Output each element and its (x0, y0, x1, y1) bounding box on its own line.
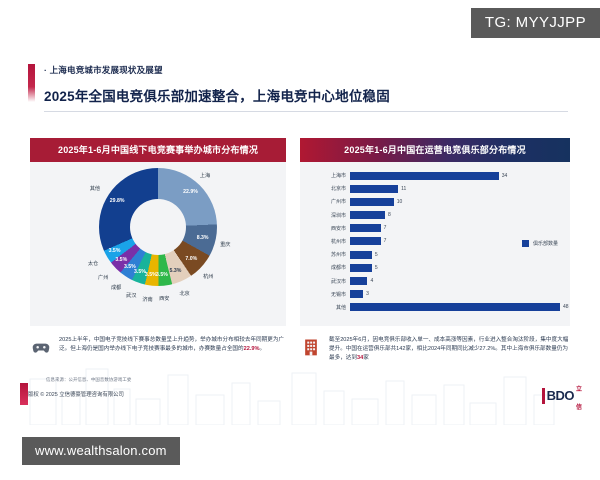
title-divider (44, 111, 568, 112)
note-block-left: 2025上半年，中国电子竞技线下赛事总数量呈上升趋势，举办城市分布相较去年同期更… (30, 336, 288, 358)
pie-slice-label: 重庆 (220, 241, 230, 248)
note-left-text: 2025上半年，中国电子竞技线下赛事总数量呈上升趋势，举办城市分布相较去年同期更… (59, 336, 288, 358)
bar-fill (350, 303, 560, 311)
bar-value-label: 4 (367, 277, 373, 285)
bdo-logo-bar-icon (542, 388, 545, 404)
slide-canvas: TG: MYYJJPP · 上海电竞城市发展现状及展望 2025年全国电竞俱乐部… (0, 0, 600, 425)
pie-slice-label: 北京 (179, 290, 189, 297)
bar-category-label: 上海市 (310, 172, 350, 179)
bar-chart-legend: 俱乐部数量 (522, 240, 558, 247)
pie-slice-label: 武汉 (126, 292, 136, 299)
bar-track: 10 (350, 198, 560, 206)
bar-category-label: 西安市 (310, 225, 350, 232)
bar-row: 上海市34 (310, 170, 560, 181)
bar-fill (350, 264, 372, 272)
bar-value-label: 7 (381, 237, 387, 245)
bdo-logo-cn-bottom: 信 (576, 405, 582, 411)
bar-value-label: 3 (363, 290, 369, 298)
note-right-text-b: 家 (363, 355, 369, 361)
bar-category-label: 北京市 (310, 185, 350, 192)
bar-value-label: 34 (499, 172, 508, 180)
pie-slice-value: 3.5% (115, 257, 127, 263)
bar-fill (350, 185, 398, 193)
panel-right-body: 上海市34北京市11广州市10深圳市8西安市7杭州市7苏州市5成都市5武汉市4无… (300, 162, 570, 326)
bar-fill (350, 211, 385, 219)
pie-slice-label: 西安 (159, 295, 169, 302)
bar-track: 8 (350, 211, 560, 219)
bar-value-label: 11 (398, 185, 406, 193)
note-left-text-b: 。 (259, 346, 265, 352)
bar-track: 7 (350, 224, 560, 232)
note-right-text: 截至2025年6月，因电竞俱乐部收入单一、成本高涨等因素，行业进入整合淘汰阶段，… (329, 336, 572, 363)
bar-fill (350, 277, 367, 285)
bar-category-label: 深圳市 (310, 212, 350, 219)
pie-slice-label: 太仓 (88, 260, 98, 267)
panel-pie-chart: 2025年1-6月中国线下电竞赛事举办城市分布情况 上海22.9%重庆8.3%杭… (30, 138, 286, 326)
bar-fill (350, 290, 363, 298)
pie-slice-value: 22.9% (183, 189, 198, 195)
legend-swatch-icon (522, 240, 529, 247)
bar-row: 西安市7 (310, 223, 560, 234)
bar-row: 广州市10 (310, 196, 560, 207)
bar-value-label: 5 (372, 264, 378, 272)
bar-category-label: 杭州市 (310, 238, 350, 245)
note-left-highlight: 22.9% (244, 346, 260, 352)
bar-value-label: 48 (560, 303, 569, 311)
bar-track: 5 (350, 264, 560, 272)
bar-track: 3 (350, 290, 560, 298)
pie-slice-value: 8.3% (197, 235, 209, 241)
telegram-watermark-tag: TG: MYYJJPP (471, 8, 600, 38)
legend-label: 俱乐部数量 (533, 240, 558, 247)
pie-slice-value: 3.5% (156, 272, 168, 278)
bar-row: 苏州市5 (310, 249, 560, 260)
bar-value-label: 10 (394, 198, 403, 206)
section-kicker: · 上海电竞城市发展现状及展望 (44, 64, 568, 76)
bar-track: 5 (350, 251, 560, 259)
source-line: 信息来源：公开信息、中国音数协游戏工委 (46, 377, 131, 383)
panel-left-header: 2025年1-6月中国线下电竞赛事举办城市分布情况 (30, 138, 286, 162)
donut-ring (99, 168, 217, 286)
note-block-right: 截至2025年6月，因电竞俱乐部收入单一、成本高涨等因素，行业进入整合淘汰阶段，… (300, 336, 572, 363)
bar-fill (350, 172, 499, 180)
bar-row: 其他48 (310, 302, 560, 313)
bar-category-label: 成都市 (310, 264, 350, 271)
pie-slice-label: 杭州 (203, 273, 213, 280)
panel-left-body: 上海22.9%重庆8.3%杭州7.0%北京5.3%西安3.5%济南3.5%武汉3… (30, 162, 286, 326)
bdo-logo-cn-top: 立 (576, 387, 582, 393)
pie-slice-value: 5.3% (170, 268, 182, 274)
bar-fill (350, 224, 381, 232)
bar-row: 成都市5 (310, 262, 560, 273)
pie-slice-value: 7.0% (185, 256, 197, 262)
pie-slice-label: 其他 (90, 185, 100, 192)
copyright-line: 版权 © 2025 立信德豪管理咨询有限公司 (28, 390, 124, 398)
bdo-logo: BDO 立 信 (542, 378, 582, 414)
panel-right-header: 2025年1-6月中国在运营电竞俱乐部分布情况 (300, 138, 570, 162)
bar-row: 武汉市4 (310, 276, 560, 287)
bar-category-label: 无锡市 (310, 291, 350, 298)
bar-track: 48 (350, 303, 560, 311)
bar-fill (350, 237, 381, 245)
bdo-logo-text: BDO (547, 388, 574, 404)
bar-row: 深圳市8 (310, 210, 560, 221)
footer-url-badge: www.wealthsalon.com (22, 437, 180, 465)
pie-slice-value: 29.8% (110, 198, 125, 204)
footer-accent-bar (20, 383, 28, 405)
pie-slice-label: 济南 (142, 296, 152, 303)
bar-row: 无锡市3 (310, 289, 560, 300)
bar-fill (350, 198, 394, 206)
pie-slice-value: 3.5% (109, 248, 121, 254)
bdo-logo-cn: 立 信 (576, 378, 582, 414)
building-icon (300, 336, 322, 358)
bar-category-label: 武汉市 (310, 278, 350, 285)
bar-row: 北京市11 (310, 183, 560, 194)
bar-track: 11 (350, 185, 560, 193)
donut-chart (99, 168, 217, 286)
pie-slice-label: 上海 (200, 172, 210, 179)
pie-slice-label: 广州 (98, 274, 108, 281)
gamepad-icon (30, 336, 52, 358)
bar-fill (350, 251, 372, 259)
pie-slice-label: 成都 (111, 284, 121, 291)
bar-category-label: 苏州市 (310, 251, 350, 258)
panel-bar-chart: 2025年1-6月中国在运营电竞俱乐部分布情况 上海市34北京市11广州市10深… (300, 138, 570, 326)
title-accent-bar (28, 64, 35, 102)
donut-hole (130, 199, 186, 255)
bar-track: 4 (350, 277, 560, 285)
bar-category-label: 广州市 (310, 198, 350, 205)
pie-slice-value: 3.5% (145, 272, 157, 278)
title-block: · 上海电竞城市发展现状及展望 2025年全国电竞俱乐部加速整合，上海电竞中心地… (28, 64, 568, 105)
bar-value-label: 5 (372, 251, 378, 259)
page-title: 2025年全国电竞俱乐部加速整合，上海电竞中心地位稳固 (44, 85, 568, 105)
page-footer: www.wealthsalon.com (0, 425, 600, 480)
bar-category-label: 其他 (310, 304, 350, 311)
bar-value-label: 7 (381, 224, 387, 232)
bar-track: 34 (350, 172, 560, 180)
bar-value-label: 8 (385, 211, 391, 219)
pie-slice-value: 3.5% (124, 264, 136, 270)
